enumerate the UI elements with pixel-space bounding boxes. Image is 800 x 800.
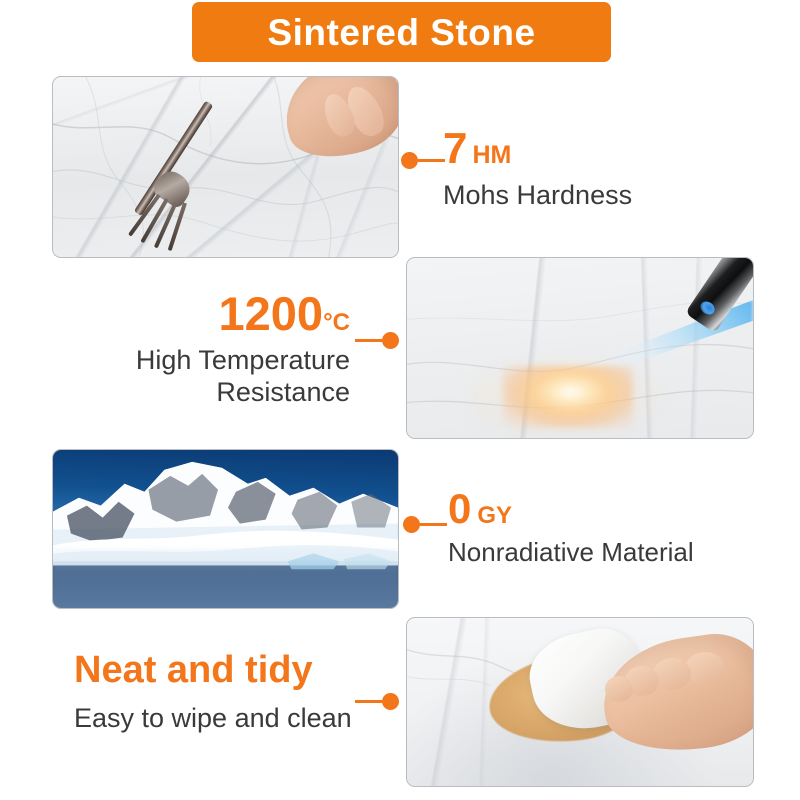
connector-temperature xyxy=(355,332,399,349)
feature-value: Neat and tidy xyxy=(74,651,352,689)
feature-value-row: 0GY xyxy=(448,488,694,530)
flame-hotspot xyxy=(503,366,633,428)
photo-snow-mountains xyxy=(52,449,399,609)
feature-value-row: 1200°C xyxy=(108,290,350,337)
feature-description-line2: Resistance xyxy=(108,377,350,407)
feature-unit: HM xyxy=(472,141,511,170)
bullet-dot-icon xyxy=(403,516,420,533)
feature-mohs-hardness: 7HM Mohs Hardness xyxy=(443,127,632,210)
connector-mohs xyxy=(401,152,445,169)
feature-value: 7 xyxy=(443,127,467,171)
leader-line xyxy=(418,159,445,162)
bullet-dot-icon xyxy=(401,152,418,169)
feature-value: 1200 xyxy=(219,290,324,337)
feature-description: Easy to wipe and clean xyxy=(74,703,352,733)
photo-torch-flame xyxy=(406,257,754,439)
infographic-page: Sintered Stone xyxy=(0,0,800,800)
water-reflection xyxy=(53,548,398,608)
knuckle xyxy=(605,676,633,702)
title-banner: Sintered Stone xyxy=(192,2,611,62)
leader-line xyxy=(355,339,382,342)
feature-value: 0 xyxy=(448,488,471,530)
feature-nonradiative: 0GY Nonradiative Material xyxy=(448,488,694,567)
feature-unit: °C xyxy=(323,309,350,337)
leader-line xyxy=(420,523,447,526)
feature-high-temperature: 1200°C High Temperature Resistance xyxy=(108,290,350,407)
photo-wipe-stain xyxy=(406,617,754,787)
page-title: Sintered Stone xyxy=(267,14,535,51)
feature-neat-and-tidy: Neat and tidy Easy to wipe and clean xyxy=(74,651,352,733)
knuckle xyxy=(653,658,691,690)
feature-value-row: 7HM xyxy=(443,127,632,171)
connector-radiation xyxy=(403,516,447,533)
feature-unit: GY xyxy=(477,502,512,530)
leader-line xyxy=(355,700,382,703)
feature-description: Nonradiative Material xyxy=(448,538,694,567)
feature-description-line1: High Temperature xyxy=(108,345,350,375)
bullet-dot-icon xyxy=(382,332,399,349)
knuckle xyxy=(685,652,725,686)
connector-neat xyxy=(355,693,399,710)
photo-marble-fork xyxy=(52,76,399,258)
bullet-dot-icon xyxy=(382,693,399,710)
feature-description: Mohs Hardness xyxy=(443,180,632,210)
